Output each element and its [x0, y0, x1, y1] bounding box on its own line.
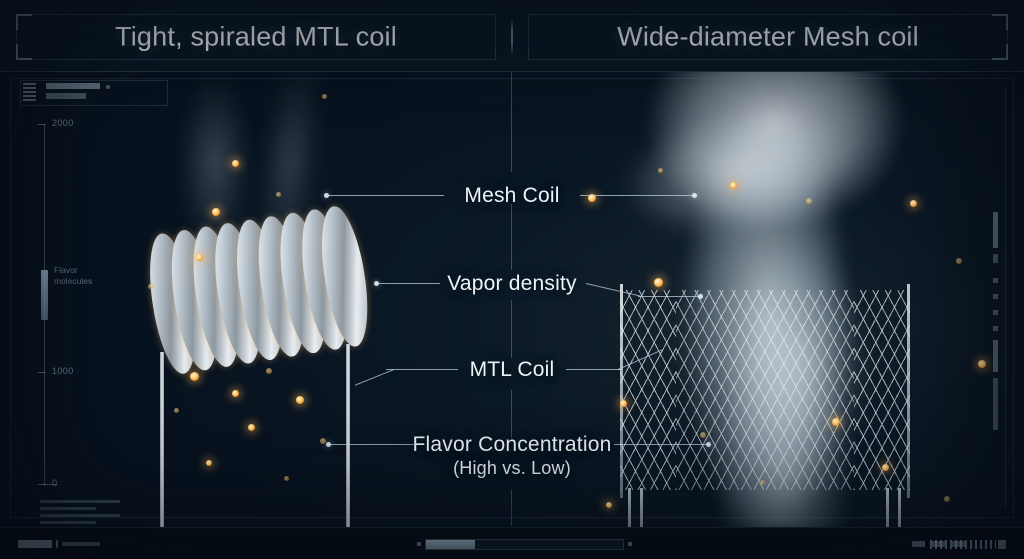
bottom-status-bar	[0, 527, 1024, 559]
ember-particle	[190, 372, 199, 381]
progress-bar-fill	[426, 540, 475, 549]
right-scroll-segment[interactable]	[993, 340, 998, 372]
status-tick	[56, 540, 58, 548]
axis-tick-label: 2000	[52, 118, 74, 128]
hud-status-dot	[106, 85, 110, 89]
mesh-panel	[620, 290, 676, 490]
ember-particle	[760, 480, 765, 485]
mesh-edge	[620, 284, 623, 498]
leader-line-right	[566, 369, 622, 370]
ember-particle	[322, 94, 327, 99]
right-scroll-dot	[993, 310, 998, 315]
ember-particle	[148, 284, 153, 289]
ember-particle	[284, 476, 289, 481]
status-line	[62, 542, 100, 546]
leader-line-left	[328, 195, 444, 196]
mesh-leg	[886, 488, 889, 527]
callout-mesh-coil: Mesh Coil	[0, 182, 1024, 208]
center-guide-line	[511, 300, 512, 358]
ember-particle	[232, 160, 239, 167]
center-guide-line	[511, 204, 512, 270]
hud-footer-lines	[40, 500, 132, 527]
left-hud-panel: 2000 1000 0 Flavor molecules	[0, 72, 130, 527]
mesh-leg	[898, 488, 901, 527]
ember-particle	[212, 208, 220, 216]
leader-dot-right	[692, 193, 697, 198]
ember-particle	[296, 396, 304, 404]
callout-label: MTL Coil	[470, 357, 555, 382]
ember-particle	[248, 424, 255, 431]
hud-indicator-bar-secondary	[46, 93, 86, 99]
header-panel-right: Wide-diameter Mesh coil	[528, 14, 1008, 60]
axis-marker-label-line2: molecules	[54, 276, 92, 287]
ember-particle	[730, 182, 737, 189]
diagram-root: Tight, spiraled MTL coil Wide-diameter M…	[0, 0, 1024, 559]
ember-particle	[658, 168, 663, 173]
ember-particle	[320, 438, 326, 444]
hamburger-icon[interactable]	[23, 83, 36, 101]
progress-arrow-left-icon[interactable]	[417, 542, 421, 546]
header-title-right: Wide-diameter Mesh coil	[529, 22, 1007, 53]
mesh-coil-graphic	[620, 290, 910, 490]
axis-base-cap	[44, 484, 58, 485]
right-rail-line	[1005, 88, 1006, 508]
right-scroll-dot	[993, 278, 998, 283]
progress-arrow-right-icon[interactable]	[628, 542, 632, 546]
center-guide-line	[511, 72, 512, 172]
callout-label-main: Flavor Concentration	[413, 433, 612, 456]
ember-particle	[654, 278, 663, 287]
mesh-panel	[676, 290, 854, 490]
right-scroll-segment[interactable]	[993, 254, 998, 263]
ember-particle	[588, 194, 596, 202]
ember-particle	[956, 258, 962, 264]
ember-particle	[700, 432, 706, 438]
leader-line-left	[386, 369, 458, 370]
center-guide-line	[511, 390, 512, 438]
progress-bar[interactable]	[425, 539, 624, 550]
ember-particle	[232, 390, 239, 397]
ember-particle	[944, 496, 950, 502]
leader-dot-left	[326, 442, 331, 447]
axis-tick-label: 1000	[52, 366, 74, 376]
right-scroll-segment[interactable]	[993, 212, 998, 248]
barcode-indicator	[930, 540, 996, 549]
barcode-end-block	[998, 540, 1006, 549]
leader-line-left	[378, 283, 440, 284]
callout-label: Flavor Concentration (High vs. Low)	[413, 432, 612, 479]
header-panel-left: Tight, spiraled MTL coil	[16, 14, 496, 60]
axis-tick	[38, 124, 46, 125]
callout-label: Vapor density	[447, 271, 576, 296]
coil-leg	[346, 344, 350, 527]
ember-particle	[606, 502, 612, 508]
mesh-edge	[907, 284, 910, 498]
ember-particle	[276, 192, 281, 197]
ember-particle	[206, 460, 212, 466]
ember-particle	[174, 408, 179, 413]
ember-particle	[806, 198, 812, 204]
leader-line-right	[580, 195, 694, 196]
leader-dot-left	[374, 281, 379, 286]
callout-label-sub: (High vs. Low)	[413, 457, 612, 479]
right-hud-panel	[964, 72, 1024, 527]
ember-particle	[910, 200, 917, 207]
vapor-plume-swirl	[587, 72, 914, 285]
right-scroll-dot	[993, 294, 998, 299]
status-dash	[912, 541, 925, 547]
axis-tick	[38, 372, 46, 373]
center-guide-line	[511, 490, 512, 526]
ember-particle	[832, 418, 840, 426]
header-bar: Tight, spiraled MTL coil Wide-diameter M…	[0, 0, 1024, 72]
mtl-coil-graphic	[138, 201, 381, 384]
mesh-panel	[854, 290, 910, 490]
axis-tick-label: 0	[52, 478, 57, 488]
status-chip	[18, 540, 52, 548]
diagram-canvas: Mesh Coil Vapor density MTL Coil F	[0, 72, 1024, 527]
axis-marker-label-line1: Flavor	[54, 265, 92, 276]
ember-particle	[266, 368, 272, 374]
header-title-left: Tight, spiraled MTL coil	[17, 22, 495, 53]
leader-line-left-2	[355, 369, 394, 386]
right-scroll-dot	[993, 326, 998, 331]
leader-dot-left	[324, 193, 329, 198]
ember-particle	[196, 254, 203, 261]
coil-leg	[160, 352, 164, 527]
axis-marker-label: Flavor molecules	[54, 265, 92, 287]
leader-line-left	[330, 444, 414, 445]
header-divider	[511, 18, 513, 56]
axis-range-handle[interactable]	[41, 270, 48, 320]
mesh-leg	[628, 488, 631, 527]
mesh-leg	[640, 488, 643, 527]
ember-particle	[620, 400, 627, 407]
ember-particle	[882, 464, 889, 471]
right-scroll-segment[interactable]	[993, 378, 998, 430]
hud-indicator-bar-primary	[46, 83, 100, 89]
